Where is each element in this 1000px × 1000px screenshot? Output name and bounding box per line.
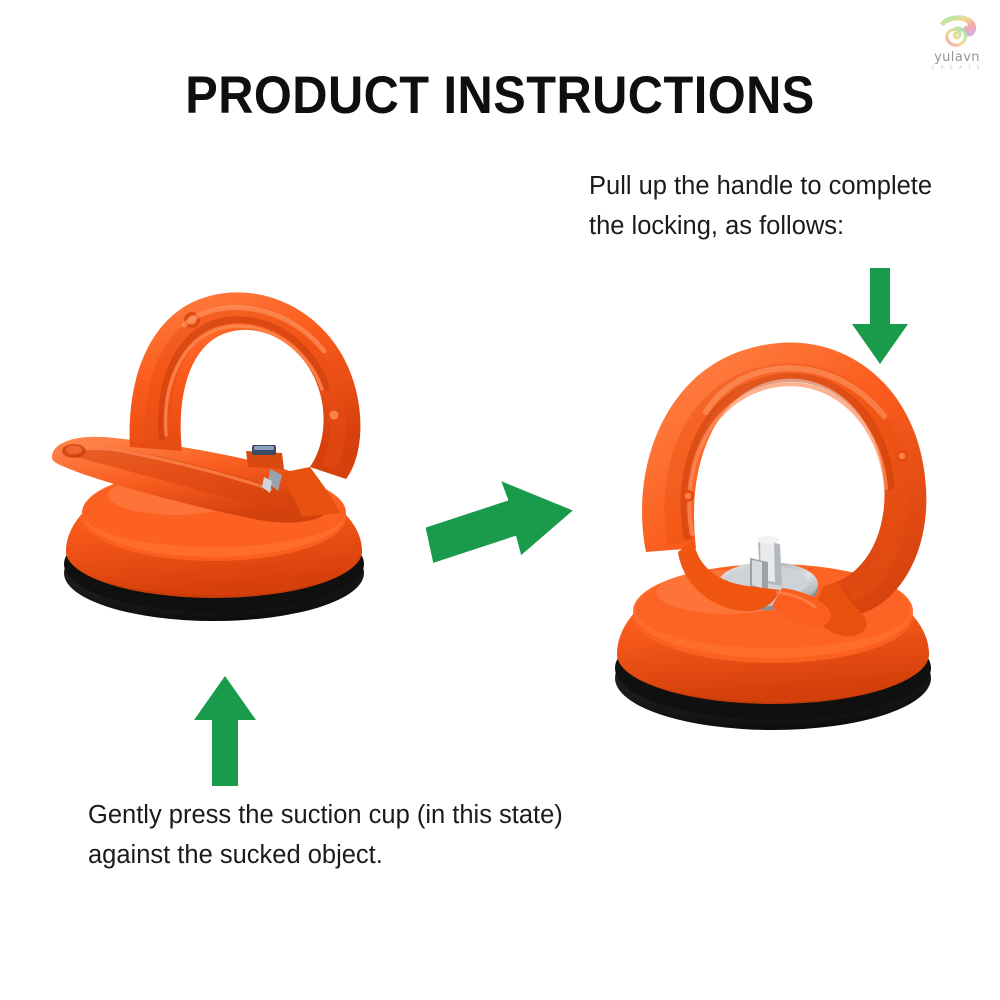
step-press-caption-line-1: Gently press the suction cup (in this st…: [88, 795, 563, 835]
product-instructions-page: yulavn C R E A T E PRODUCT INSTRUCTIONS …: [0, 0, 1000, 1000]
chameleon-spiral-icon: [934, 12, 980, 50]
arrow-right-icon: [424, 476, 576, 572]
watermark-brand-text: yulavn: [920, 51, 994, 65]
page-title: PRODUCT INSTRUCTIONS: [40, 68, 960, 124]
step-lock-caption-line-1: Pull up the handle to complete: [589, 166, 932, 206]
step-press-caption-line-2: against the sucked object.: [88, 835, 563, 875]
arrow-up-icon: [190, 676, 260, 786]
step-lock-caption: Pull up the handle to complete the locki…: [589, 166, 932, 246]
suction-cup-locked-image: [568, 290, 978, 750]
step-press-caption: Gently press the suction cup (in this st…: [88, 795, 563, 875]
suction-cup-unlocked-image: [34, 255, 434, 635]
step-lock-caption-line-2: the locking, as follows:: [589, 206, 932, 246]
